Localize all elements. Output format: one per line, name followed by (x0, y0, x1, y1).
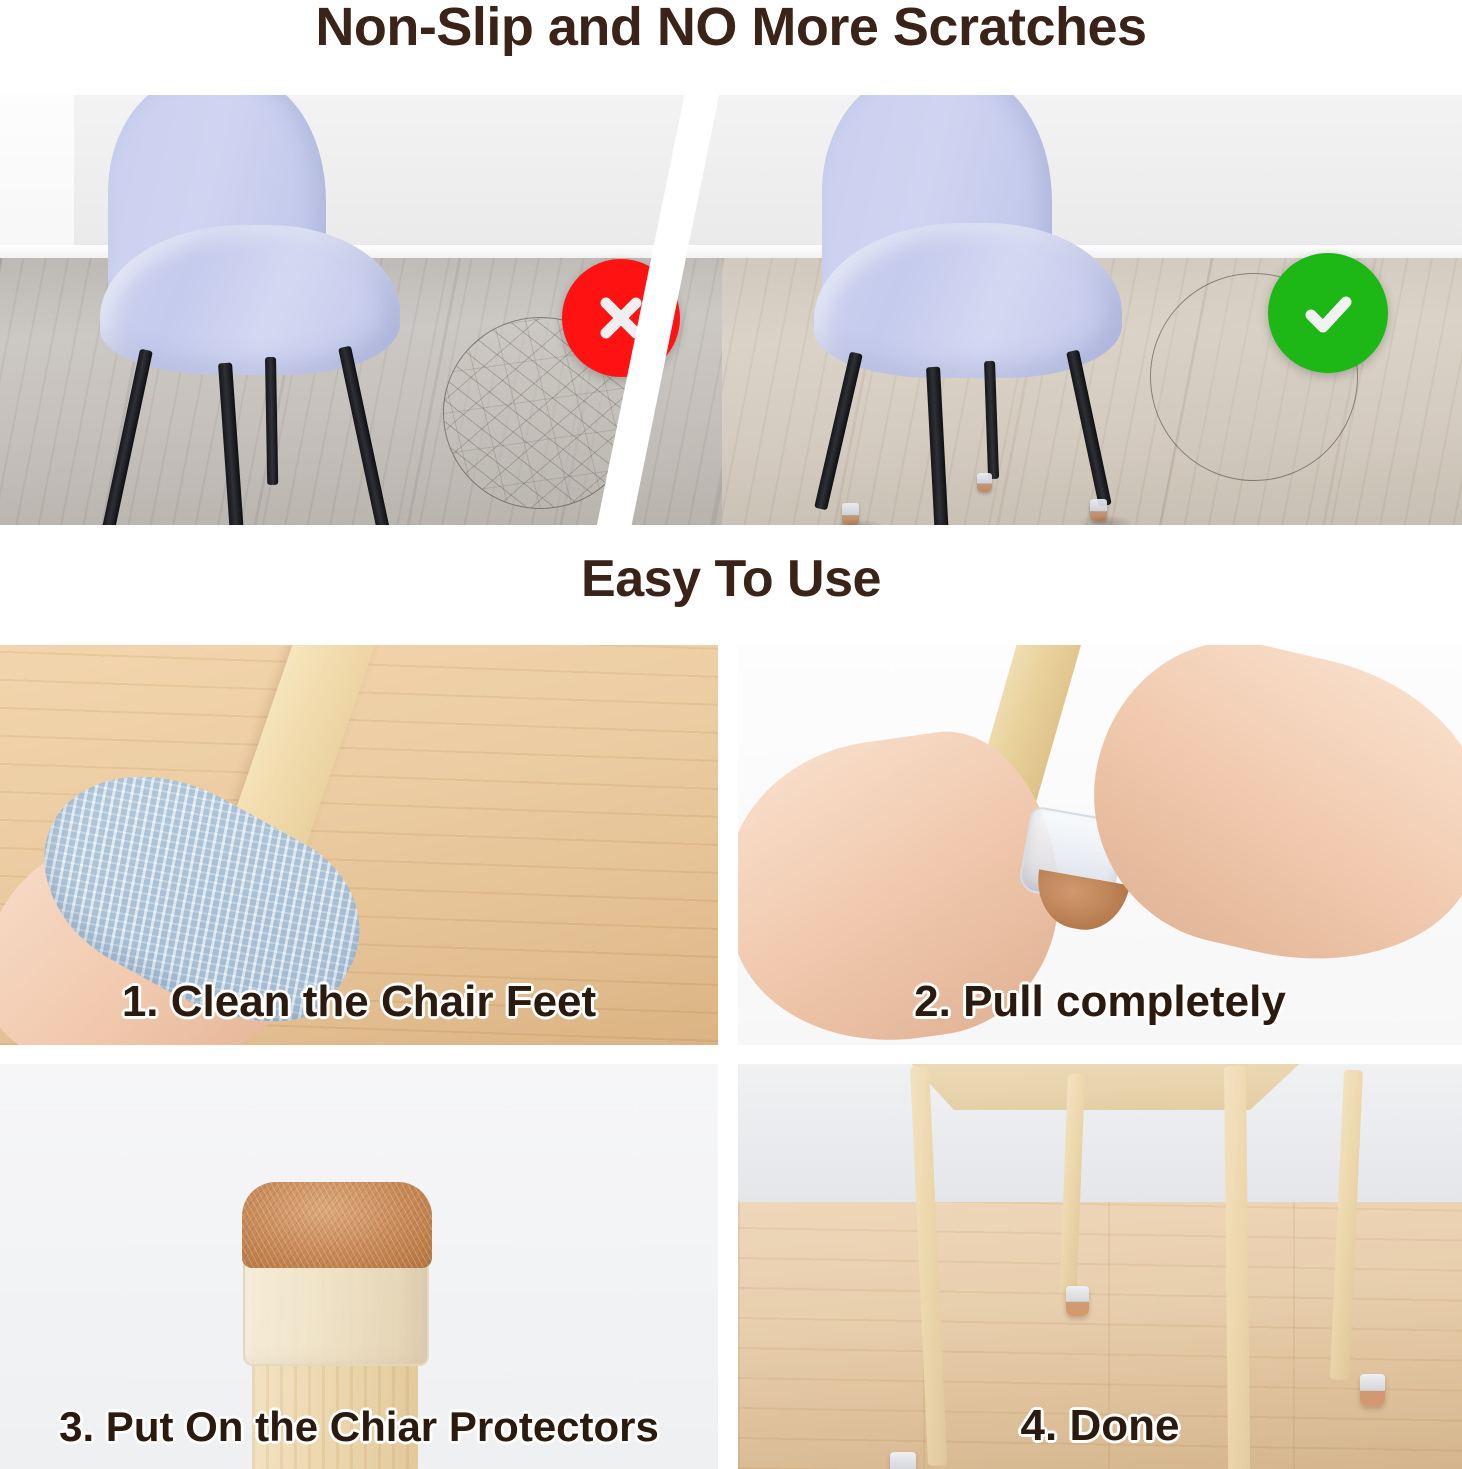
step-caption: 1. Clean the Chair Feet (0, 977, 718, 1027)
step-caption: 3. Put On the Chiar Protectors (0, 1403, 718, 1451)
leg-protector-cap (890, 1452, 916, 1469)
step-card-4: 4. Done (738, 1064, 1462, 1469)
leg-protector-cap (1066, 1286, 1089, 1316)
step-caption: 2. Pull completely (738, 977, 1462, 1027)
step-caption: 4. Done (738, 1401, 1462, 1451)
comparison-band (0, 95, 1462, 525)
comparison-panel-with-protectors (722, 95, 1462, 525)
steps-grid: 1. Clean the Chair Feet 2. Pull complete… (0, 645, 1462, 1469)
leg-protector-cap (977, 473, 992, 492)
leg-shadow (1078, 515, 1134, 525)
page-title: Non-Slip and NO More Scratches (0, 0, 1462, 58)
chair-leg (265, 357, 278, 485)
infographic-page: Non-Slip and NO More Scratches (0, 0, 1462, 1469)
felt-pad (242, 1182, 432, 1268)
step-card-2: 2. Pull completely (738, 645, 1462, 1045)
check-mark-badge (1268, 253, 1388, 373)
section-title: Easy To Use (0, 549, 1462, 609)
check-mark-icon (1296, 281, 1360, 345)
step-card-3: 3. Put On the Chiar Protectors (0, 1064, 718, 1469)
step-card-1: 1. Clean the Chair Feet (0, 645, 718, 1045)
room-scene-protected (722, 95, 1462, 525)
